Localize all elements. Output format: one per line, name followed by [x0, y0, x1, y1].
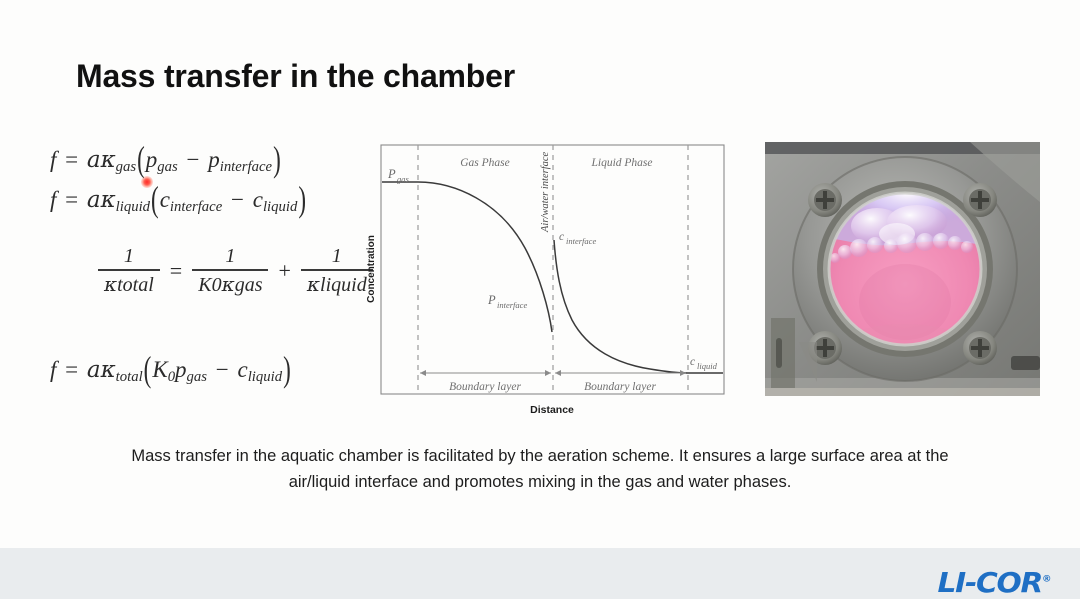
eq3-den-left-sub: total — [117, 274, 154, 296]
slide: Mass transfer in the chamber f = aκgas(p… — [0, 0, 1080, 599]
c-interface-symbol: c — [559, 231, 564, 243]
eq4-operator: − — [213, 357, 232, 382]
y-axis-label: Concentration — [366, 235, 377, 303]
eq4-paren-close: ) — [282, 352, 292, 388]
label-air-water-interface: Air/water interface — [540, 151, 551, 233]
annotation-gas-boundary-layer: Boundary layer — [449, 381, 521, 393]
page-title: Mass transfer in the chamber — [76, 58, 515, 95]
p-gas-symbol: P — [387, 167, 396, 181]
x-axis-label: Distance — [530, 404, 574, 416]
eq1-term2: p — [208, 147, 220, 172]
licor-logo-text: LI-COR — [938, 566, 1043, 599]
eq1-coef: aκ — [87, 147, 116, 173]
bubble — [867, 237, 883, 253]
slide-caption: Mass transfer in the aquatic chamber is … — [120, 444, 960, 495]
caption-line-1: Mass transfer in the aquatic chamber is … — [131, 447, 806, 465]
screw-bottom-right — [963, 331, 997, 365]
c-interface-subscript: interface — [566, 236, 596, 246]
eq4-term1: K — [152, 357, 167, 382]
fraction-gas: 1 K0κgas — [192, 246, 268, 297]
eq1-operator: − — [184, 147, 203, 172]
eq4-term2: c — [237, 357, 247, 382]
bubble — [884, 239, 898, 253]
photo-bottom-strip — [765, 388, 1040, 396]
region-label-gas-phase: Gas Phase — [460, 157, 510, 169]
left-bracket — [771, 318, 795, 388]
eq4-term2-sub: liquid — [248, 369, 282, 385]
bubble — [897, 233, 917, 253]
eq1-paren-close: ) — [272, 142, 282, 178]
eq4-coef-sub: total — [116, 369, 143, 385]
eq2-paren-open: ( — [150, 182, 160, 218]
screw-top-right — [963, 183, 997, 217]
aquatic-chamber-viewport-photo — [765, 142, 1040, 396]
equation-total-conductance: 1 κtotal = 1 K0κgas + 1 κliquid — [92, 246, 379, 297]
eq2-paren-close: ) — [297, 182, 307, 218]
left-slot — [776, 338, 782, 368]
equation-flux-liquid: f = aκliquid(cinterface − cliquid) — [50, 188, 307, 215]
bubble — [948, 236, 962, 250]
eq4-term1b-sub: gas — [187, 369, 207, 385]
region-label-liquid-phase: Liquid Phase — [590, 157, 652, 169]
fraction-bar-mid — [192, 269, 268, 271]
eq2-operator: − — [228, 187, 247, 212]
bubble — [961, 241, 973, 253]
eq2-coef: aκ — [87, 187, 116, 213]
eq1-term1-sub: gas — [157, 159, 177, 175]
eq2-term1-sub: interface — [170, 199, 222, 215]
eq1-term2-sub: interface — [220, 159, 272, 175]
annotation-liquid-boundary-layer: Boundary layer — [584, 381, 656, 393]
two-film-model-diagram: Gas Phase Liquid Phase Air/water interfa… — [360, 136, 735, 421]
fraction-bar-left — [98, 269, 160, 271]
eq3-den-mid-pre: K — [198, 274, 211, 296]
eq4-term1-sub: 0 — [168, 369, 175, 385]
p-gas-subscript: gas — [397, 174, 410, 184]
eq1-rel: = — [62, 147, 81, 172]
screw-top-left — [808, 183, 842, 217]
eq2-lhs: f — [50, 187, 56, 212]
bubble — [838, 245, 852, 259]
p-interface-subscript: interface — [497, 300, 527, 310]
eq3-plus: + — [278, 258, 290, 284]
fraction-total: 1 κtotal — [98, 246, 160, 297]
registered-trademark-icon: ® — [1042, 575, 1052, 585]
eq2-coef-sub: liquid — [116, 199, 150, 215]
right-fitting — [1011, 356, 1040, 370]
eq3-den-left-sym: κ — [104, 272, 117, 296]
eq1-coef-sub: gas — [116, 159, 136, 175]
bubble — [933, 233, 949, 249]
eq1-term1: p — [146, 147, 158, 172]
eq3-den-mid: K0κgas — [192, 273, 268, 297]
eq1-lhs: f — [50, 147, 56, 172]
c-liquid-symbol: c — [690, 356, 695, 368]
eq2-term1: c — [160, 187, 170, 212]
p-interface-symbol: P — [487, 293, 496, 307]
eq2-term2: c — [253, 187, 263, 212]
eq4-term1b: p — [175, 357, 187, 382]
laser-pointer-dot — [141, 176, 153, 188]
eq3-num-right: 1 — [326, 246, 348, 267]
eq3-den-mid-pre-sub: 0 — [212, 274, 222, 296]
eq4-rel: = — [62, 357, 81, 382]
eq3-num-left: 1 — [118, 246, 140, 267]
eq3-den-left: κtotal — [98, 273, 160, 297]
eq1-paren-open: ( — [136, 142, 146, 178]
eq4-coef: aκ — [87, 357, 116, 383]
eq3-den-right-sym: κ — [307, 272, 320, 296]
bubble — [916, 233, 934, 251]
eq3-num-mid: 1 — [219, 246, 241, 267]
eq3-rel: = — [170, 258, 182, 284]
footer-bar — [0, 548, 1080, 599]
eq3-den-mid-sub: gas — [235, 274, 263, 296]
eq3-den-mid-sym: κ — [222, 272, 235, 296]
eq2-rel: = — [62, 187, 81, 212]
equation-flux-gas: f = aκgas(pgas − pinterface) — [50, 148, 282, 175]
licor-logo: LI-COR® — [938, 566, 1052, 599]
eq4-paren-open: ( — [143, 352, 153, 388]
eq4-lhs: f — [50, 357, 56, 382]
equation-flux-total: f = aκtotal(K0pgas − cliquid) — [50, 358, 292, 385]
bubble — [850, 239, 868, 257]
c-liquid-subscript: liquid — [697, 361, 718, 371]
eq2-term2-sub: liquid — [263, 199, 297, 215]
